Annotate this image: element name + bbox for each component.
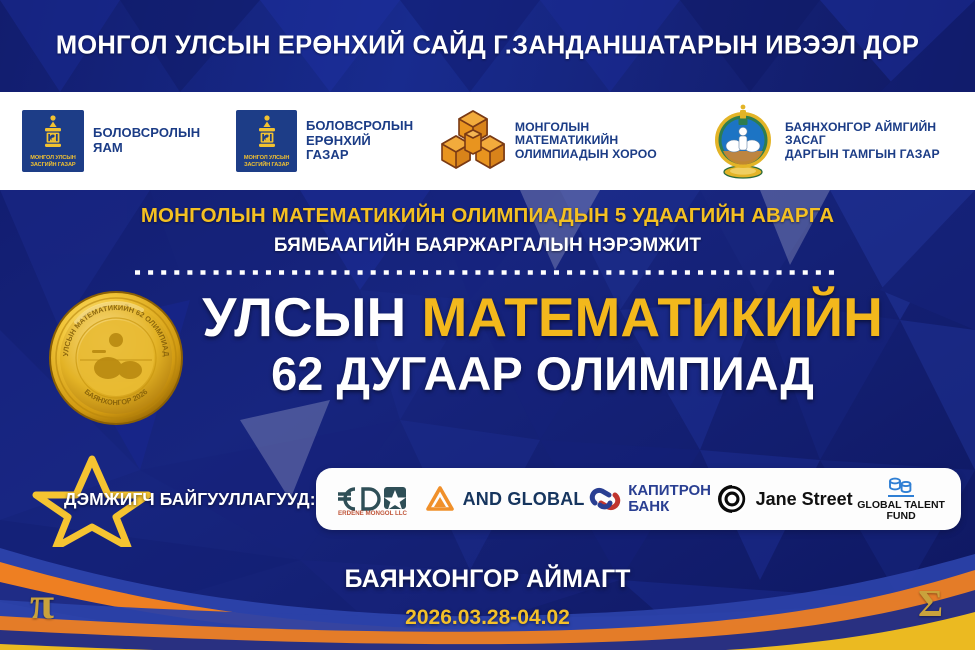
- dedication-subtitle: БЯМБААГИЙН БАЯРЖАРГАЛЫН НЭРЭМЖИТ: [0, 235, 975, 257]
- olympiad-poster: МОНГОЛ УЛСЫН ЕРӨНХИЙ САЙД Г.ЗАНДАНШАТАРЫ…: [0, 0, 975, 650]
- logo-general-education-authority: МОНГОЛ УЛСЫН ЗАСГИЙН ГАЗАР БОЛОВСРОЛЫН Е…: [236, 110, 415, 172]
- emblem-caption: МОНГОЛ УЛСЫН ЗАСГИЙН ГАЗАР: [236, 155, 297, 169]
- partner-logo-strip: МОНГОЛ УЛСЫН ЗАСГИЙН ГАЗАР БОЛОВСРОЛЫН Я…: [0, 92, 975, 190]
- svg-text:ERDENE MONGOL LLC: ERDENE MONGOL LLC: [338, 510, 408, 517]
- headline-word-matematikiin: МАТЕМАТИКИЙН: [421, 286, 882, 348]
- erd-wordmark-star-icon: ERDENE MONGOL LLC: [332, 481, 420, 517]
- emblem-caption: МОНГОЛ УЛСЫН ЗАСГИЙН ГАЗАР: [22, 155, 84, 169]
- mongolia-soyombo-emblem-icon: МОНГОЛ УЛСЫН ЗАСГИЙН ГАЗАР: [236, 110, 297, 172]
- footer-city: БАЯНХОНГОР АЙМАГТ: [0, 565, 975, 594]
- top-banner: МОНГОЛ УЛСЫН ЕРӨНХИЙ САЙД Г.ЗАНДАНШАТАРЫ…: [0, 0, 975, 92]
- jane-street-ring-icon: [716, 483, 748, 515]
- blue-blocks-icon: [884, 476, 918, 498]
- bayankhongor-province-emblem-icon: [707, 98, 779, 185]
- logo-label: БАЯНХОНГОР АЙМГИЙН ЗАСАГ ДАРГЫН ТАМГЫН Г…: [785, 121, 975, 162]
- sponsor-name: AND GLOBAL: [463, 489, 585, 510]
- orange-interlocking-blocks-icon: [439, 108, 507, 175]
- logo-label: БОЛОВСРОЛЫН ЕРӨНХИЙ ГАЗАР: [306, 119, 415, 163]
- page-title: МОНГОЛ УЛСЫН ЕРӨНХИЙ САЙД Г.ЗАНДАНШАТАРЫ…: [0, 32, 975, 61]
- sponsor-global-talent-fund[interactable]: GLOBAL TALENT FUND: [857, 476, 945, 522]
- kapitron-knot-icon: [589, 483, 621, 515]
- orange-triangle-icon: [425, 484, 455, 514]
- mongolia-soyombo-emblem-icon: МОНГОЛ УЛСЫН ЗАСГИЙН ГАЗАР: [22, 110, 84, 172]
- sponsor-subname: БАНК: [628, 499, 711, 515]
- sigma-symbol-icon: Σ: [918, 582, 943, 626]
- sponsors-panel: ERDENE MONGOL LLC AND GLOBAL КАПИТРОН БА…: [316, 468, 961, 530]
- logo-math-olympiad-committee: МОНГОЛЫН МАТЕМАТИКИЙН ОЛИМПИАДЫН ХОРОО: [439, 108, 691, 175]
- logo-label: БОЛОВСРОЛЫН ЯАМ: [93, 126, 200, 155]
- headline-word-ulsyn: УЛСЫН: [202, 286, 406, 348]
- sponsor-and-global[interactable]: AND GLOBAL: [425, 484, 585, 514]
- logo-bayankhongor-governor-office: БАЯНХОНГОР АЙМГИЙН ЗАСАГ ДАРГЫН ТАМГЫН Г…: [707, 98, 975, 185]
- supporters-label: ДЭМЖИГЧ БАЙГУУЛЛАГУУД:: [64, 489, 316, 510]
- headline-line-1: УЛСЫН МАТЕМАТИКИЙН: [130, 290, 955, 345]
- pi-symbol-icon: π: [30, 578, 54, 629]
- sponsor-kapitron-bank[interactable]: КАПИТРОН БАНК: [589, 483, 711, 515]
- sponsor-subname: FUND: [857, 511, 945, 522]
- sponsor-name: КАПИТРОН: [628, 483, 711, 499]
- dotted-divider: [135, 270, 840, 275]
- champion-subtitle: МОНГОЛЫН МАТЕМАТИКИЙН ОЛИМПИАДЫН 5 УДААГ…: [0, 204, 975, 228]
- logo-label: МОНГОЛЫН МАТЕМАТИКИЙН ОЛИМПИАДЫН ХОРОО: [515, 121, 691, 162]
- sponsor-erdene-mongol[interactable]: ERDENE MONGOL LLC: [332, 481, 420, 517]
- sponsor-name: Jane Street: [756, 489, 853, 510]
- gold-medal-icon: УЛСЫН МАТЕМАТИКИЙН 62 ОЛИМПИАД БАЯНХОНГО…: [46, 288, 186, 428]
- sponsor-jane-street[interactable]: Jane Street: [716, 483, 853, 515]
- headline-line-2: 62 ДУГААР ОЛИМПИАД: [130, 350, 955, 397]
- footer-dates: 2026.03.28-04.02: [0, 606, 975, 630]
- logo-government-education-ministry: МОНГОЛ УЛСЫН ЗАСГИЙН ГАЗАР БОЛОВСРОЛЫН Я…: [22, 110, 200, 172]
